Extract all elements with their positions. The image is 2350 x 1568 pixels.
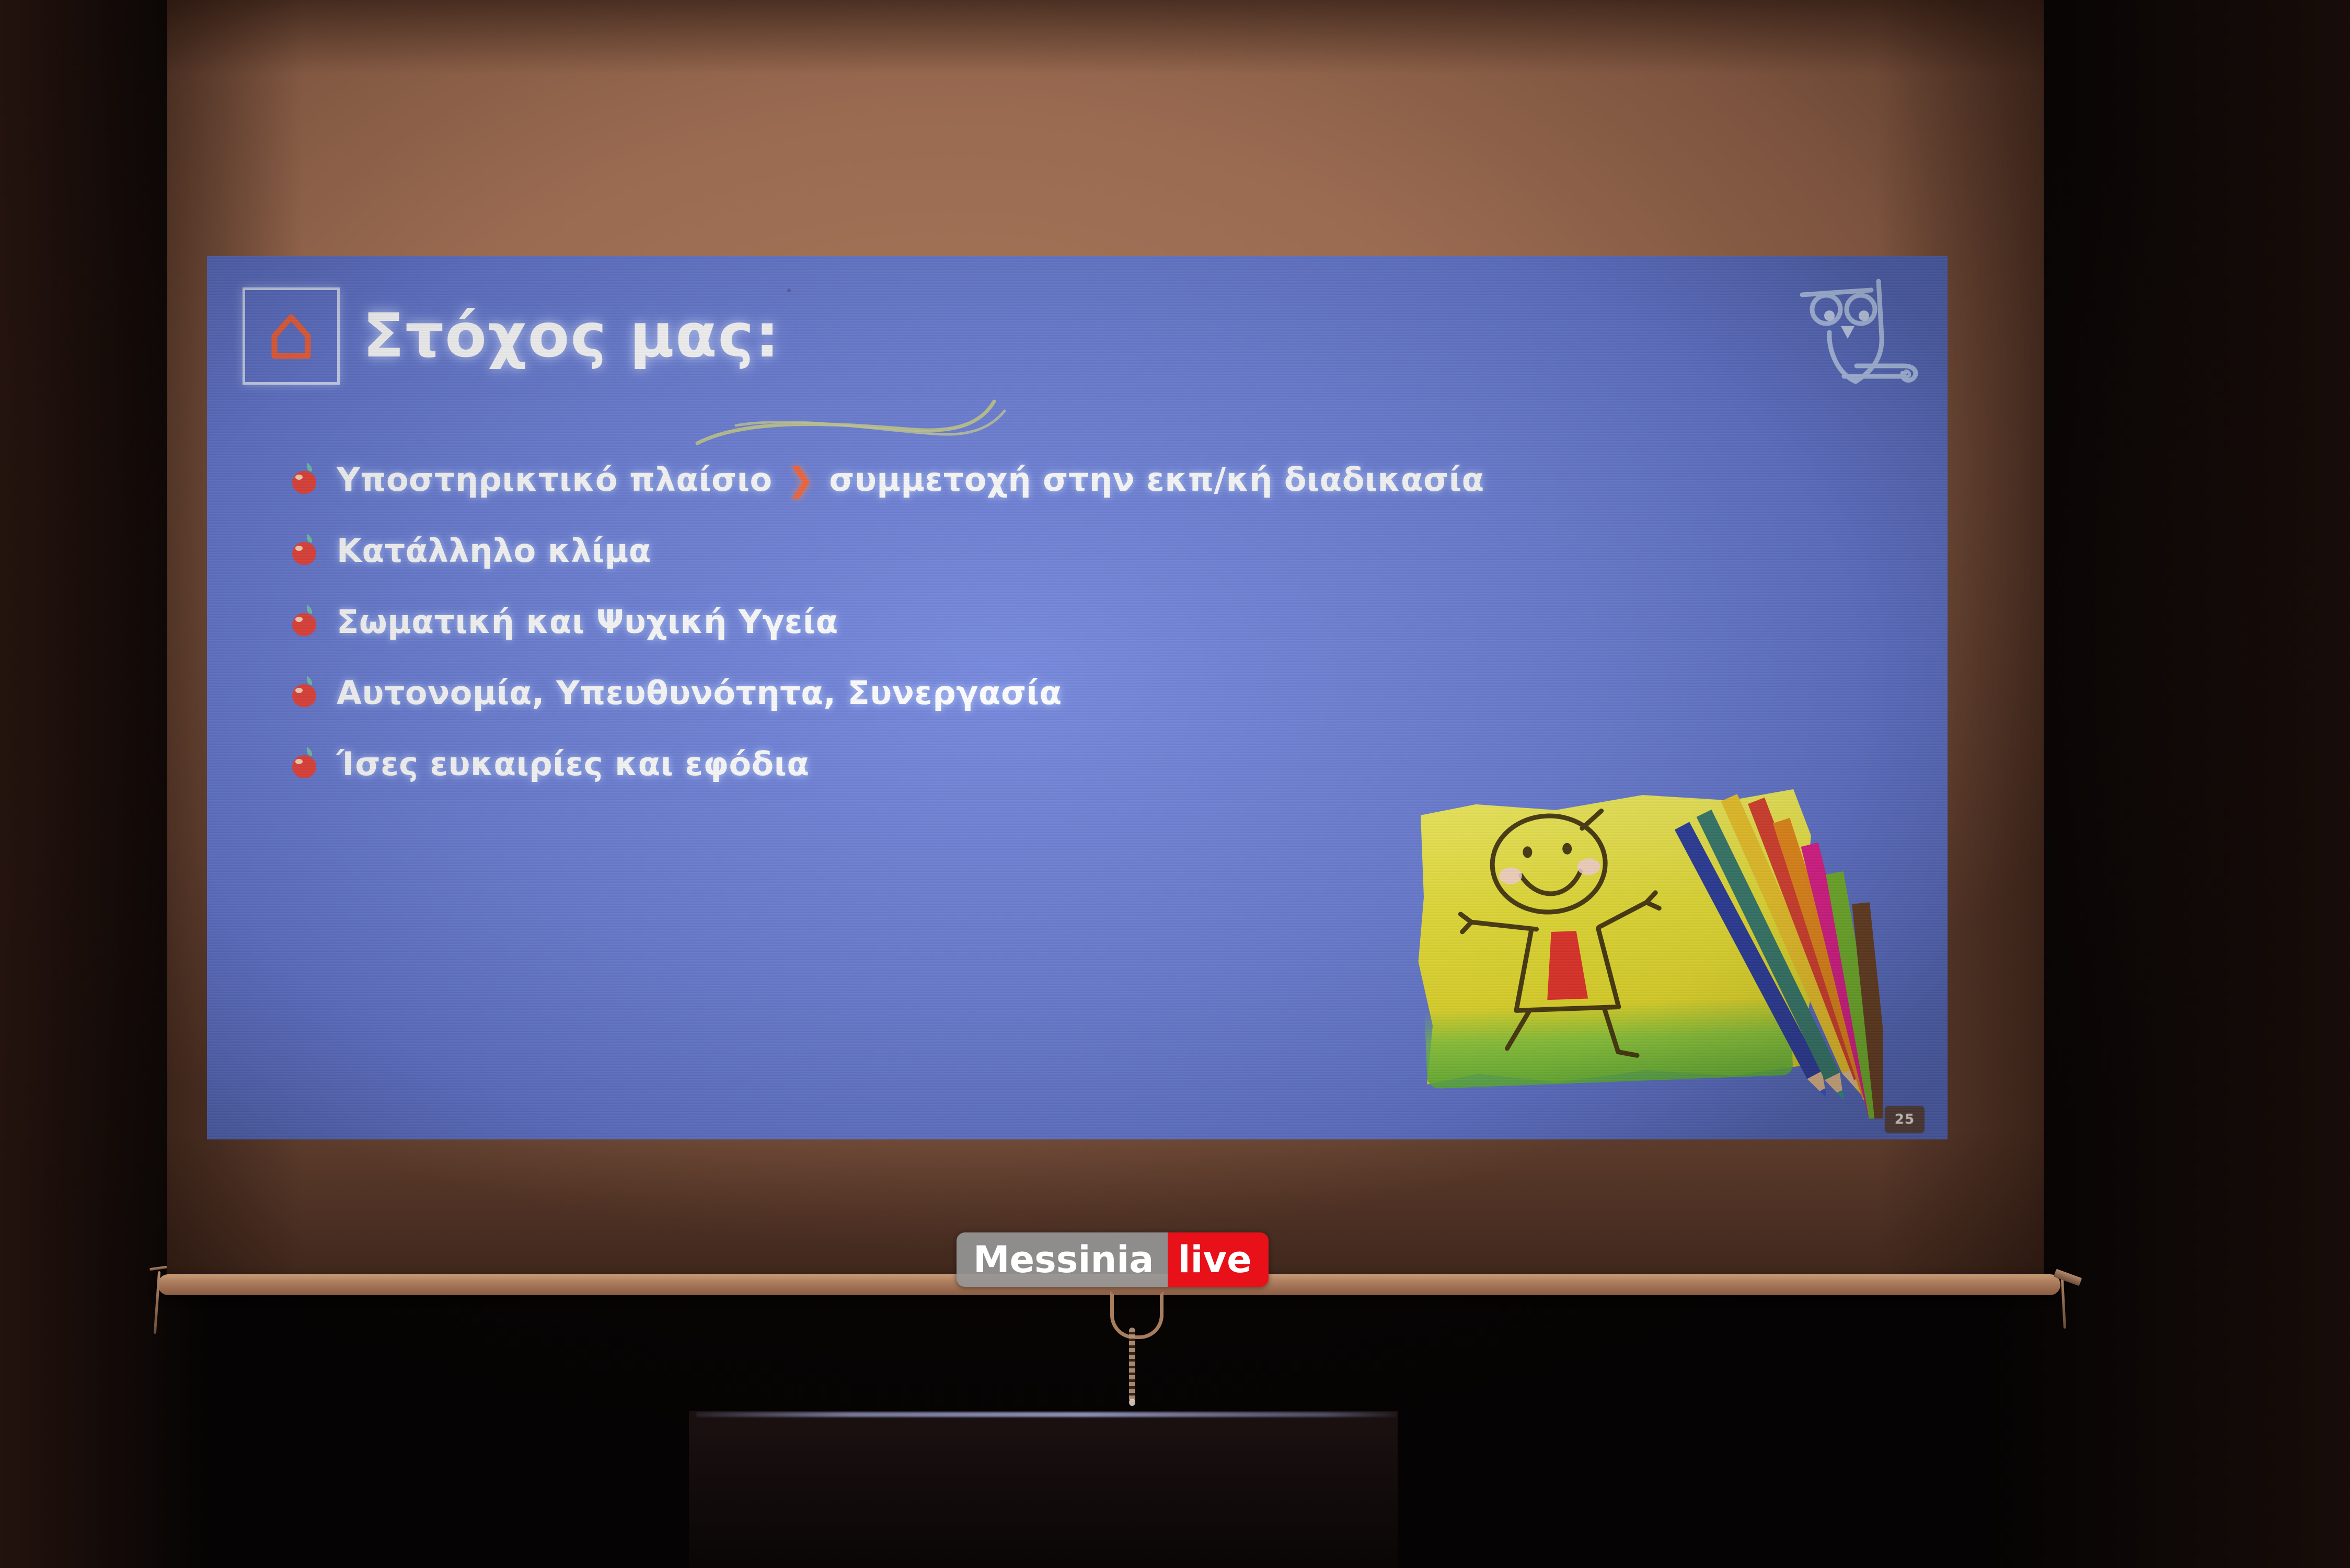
bullet-list: Υποστηρικτικό πλαίσιο ❯ συμμετοχή στην ε… bbox=[291, 444, 1650, 800]
screen-pull-chain[interactable] bbox=[1129, 1328, 1135, 1402]
watermark-brand: Messinia bbox=[957, 1232, 1168, 1287]
home-icon-frame bbox=[243, 287, 340, 385]
projected-slide: Στόχος μας: bbox=[207, 256, 1948, 1139]
page-title: Στόχος μας: bbox=[363, 306, 780, 366]
screen-pull-chain-tip bbox=[1129, 1399, 1135, 1406]
list-item-label: Υποστηρικτικό πλαίσιο ❯ συμμετοχή στην ε… bbox=[337, 464, 1484, 496]
child-drawing-photo bbox=[1412, 779, 1883, 1119]
projection-screen: Στόχος μας: bbox=[167, 0, 2044, 1287]
list-item-label: Ίσες ευκαιρίες και εφόδια bbox=[337, 748, 809, 780]
apple-bullet-icon bbox=[291, 460, 320, 495]
apple-bullet-icon bbox=[291, 603, 320, 637]
podium bbox=[689, 1411, 1398, 1568]
screen-dust-speck bbox=[787, 289, 791, 292]
screen-top-shadow bbox=[167, 0, 2044, 74]
owl-logo bbox=[1794, 274, 1925, 389]
apple-bullet-icon bbox=[291, 674, 320, 708]
colored-pencils bbox=[1637, 779, 1883, 1119]
slide-title-row: Στόχος μας: bbox=[243, 287, 780, 385]
home-icon bbox=[269, 311, 313, 361]
slide-page-number-badge: 25 bbox=[1885, 1106, 1925, 1133]
list-item: Αυτονομία, Υπευθυνότητα, Συνεργασία bbox=[291, 658, 1650, 729]
apple-bullet-icon bbox=[291, 745, 320, 779]
watermark-suffix: live bbox=[1168, 1232, 1269, 1287]
apple-bullet-icon bbox=[291, 532, 320, 566]
podium-top-edge-highlight bbox=[696, 1412, 1397, 1417]
list-item-label: Κατάλληλο κλίμα bbox=[337, 535, 651, 567]
messinia-live-watermark: Messinia live bbox=[957, 1232, 1269, 1287]
chevron-right-icon: ❯ bbox=[784, 460, 817, 499]
list-item: Υποστηρικτικό πλαίσιο ❯ συμμετοχή στην ε… bbox=[291, 444, 1650, 515]
screen-pull-ring[interactable] bbox=[1110, 1291, 1164, 1339]
list-item-label: Αυτονομία, Υπευθυνότητα, Συνεργασία bbox=[337, 677, 1062, 709]
list-item-label: Σωματική και Ψυχική Υγεία bbox=[337, 606, 838, 638]
list-item: Σωματική και Ψυχική Υγεία bbox=[291, 586, 1650, 658]
list-item: Κατάλληλο κλίμα bbox=[291, 515, 1650, 586]
